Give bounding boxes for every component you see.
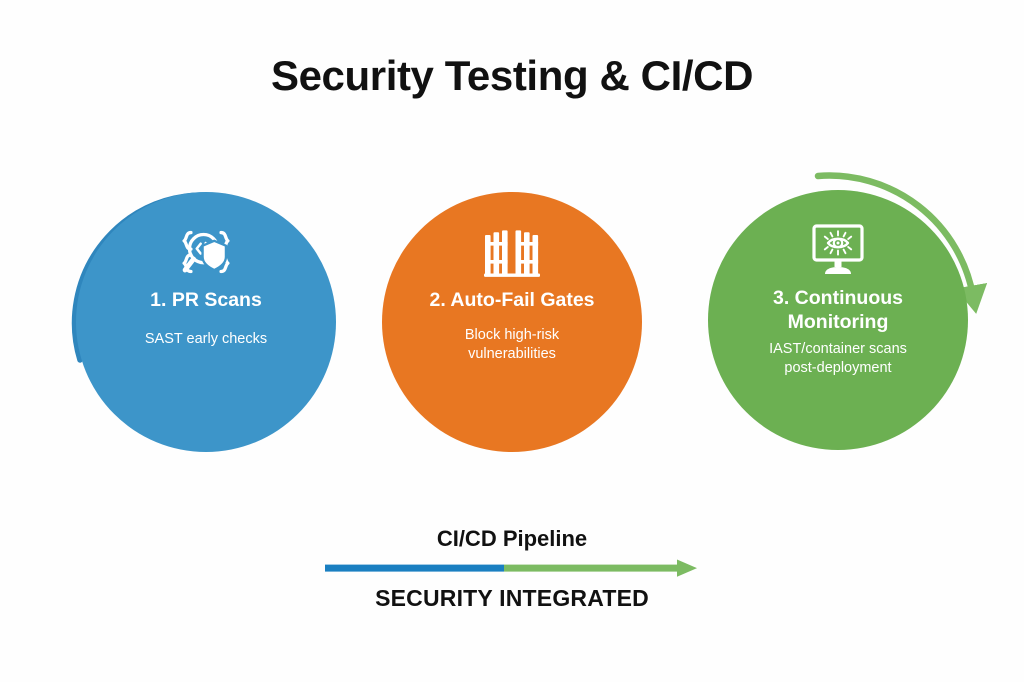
gate-fence-icon (477, 224, 547, 282)
stage-3-subtitle: IAST/container scans post-deployment (731, 340, 946, 378)
stage-continuous-monitoring[interactable]: 3. Continuous Monitoring IAST/container … (708, 190, 968, 450)
pipeline-footer: SECURITY INTEGRATED (0, 585, 1024, 612)
page-title: Security Testing & CI/CD (0, 52, 1024, 100)
stage-1-title: 1. PR Scans (91, 288, 321, 312)
pipeline-arrowhead (677, 560, 697, 577)
pipeline-arrow (325, 556, 705, 582)
stage-2-subtitle: Block high-risk vulnerabilities (405, 326, 620, 364)
stage-3-disc: 3. Continuous Monitoring IAST/container … (708, 190, 968, 450)
monitor-eye-icon (803, 222, 873, 280)
pipeline-arrow-blue-segment (325, 565, 504, 572)
stage-3-title: 3. Continuous Monitoring (723, 286, 953, 334)
stage-1-subtitle: SAST early checks (99, 330, 314, 349)
stage-2-title: 2. Auto-Fail Gates (397, 288, 627, 312)
stage-auto-fail-gates[interactable]: 2. Auto-Fail Gates Block high-risk vulne… (382, 192, 642, 452)
pipeline-label: CI/CD Pipeline (0, 526, 1024, 552)
pipeline-arrow-green-segment (504, 565, 679, 572)
stage-pr-scans[interactable]: 1. PR Scans SAST early checks (76, 192, 336, 452)
stage-2-disc: 2. Auto-Fail Gates Block high-risk vulne… (382, 192, 642, 452)
diagram-canvas: Security Testing & CI/CD (0, 0, 1024, 682)
stage-1-disc: 1. PR Scans SAST early checks (76, 192, 336, 452)
code-shield-magnifier-icon (171, 224, 241, 282)
